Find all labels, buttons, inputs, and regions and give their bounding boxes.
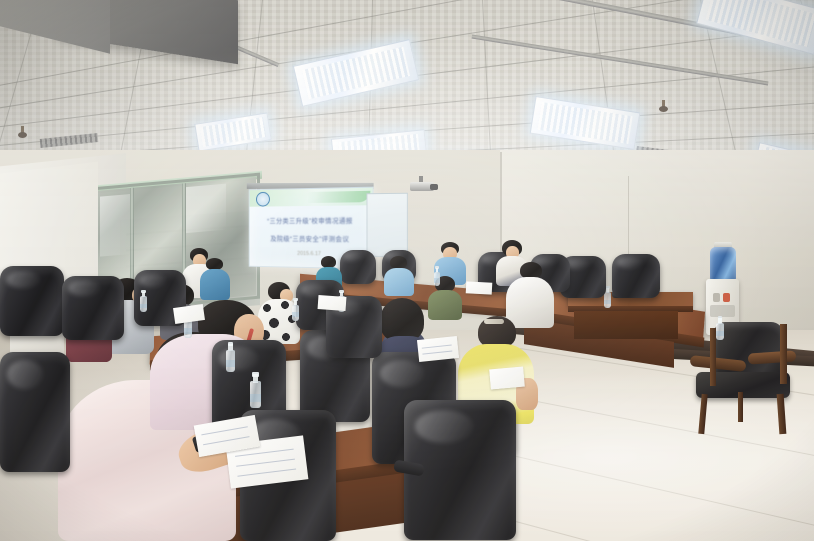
office-chair <box>62 276 124 340</box>
ceiling-projector <box>410 182 440 193</box>
drip-tray <box>710 305 735 317</box>
water-bottle <box>140 292 147 312</box>
water-bottle <box>434 268 440 286</box>
slide-logo-icon <box>256 192 270 207</box>
wood-frame-armchair <box>690 322 798 434</box>
paper-document <box>489 367 525 390</box>
armchair-arm-right <box>748 350 797 364</box>
water-bottle <box>292 300 299 321</box>
attendee-blue-shirt-mid <box>384 256 414 296</box>
office-chair <box>404 400 516 540</box>
cold-tap-icon <box>713 293 720 302</box>
office-chair <box>612 254 660 298</box>
attendee-blue-shirt-back <box>200 258 230 300</box>
slide-heading-line-1: “三分类三升级”校审情况通报 <box>250 215 373 226</box>
photograph-conference-room: “三分类三升级”校审情况通报 及院级“三员安全”评测会议 2015.6.17 <box>0 0 814 541</box>
side-desk <box>568 292 693 350</box>
water-jug <box>710 247 736 281</box>
water-bottle <box>716 318 724 340</box>
slide-heading-line-2: 及院级“三员安全”评测会议 <box>250 233 373 244</box>
paper-document <box>417 336 459 362</box>
paper-document <box>318 295 347 311</box>
hair-clip-icon <box>484 319 504 324</box>
office-chair <box>0 352 70 472</box>
slide-swoosh-graphic <box>308 191 370 203</box>
wall-board-panel <box>366 193 407 258</box>
paper-document <box>466 281 493 294</box>
office-chair <box>0 266 64 336</box>
water-bottle <box>226 344 235 372</box>
water-bottle <box>250 374 261 408</box>
hot-tap-icon <box>723 293 730 302</box>
office-chair <box>340 250 376 284</box>
